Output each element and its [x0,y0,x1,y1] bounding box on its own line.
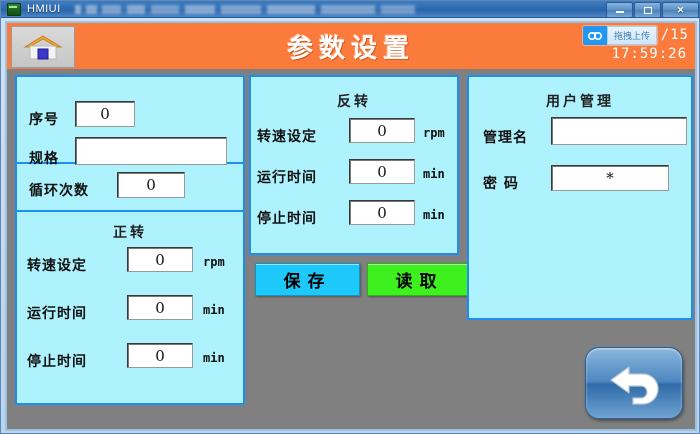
admin-name-input[interactable] [551,117,687,145]
reverse-speed-label: 转速设定 [257,126,317,146]
serial-label: 序号 [29,109,59,129]
reverse-group-title: 反转 [251,91,457,111]
home-button[interactable] [11,26,75,68]
reverse-run-label: 运行时间 [257,167,317,187]
application-window: HMIUI ✕ 参数设置 /15 [0,0,700,434]
app-icon [7,3,21,16]
home-icon [23,34,63,60]
reverse-stop-input[interactable]: 0 [349,200,415,225]
forward-run-input[interactable]: 0 [127,295,193,320]
cloud-icon [583,26,607,45]
reverse-run-unit: min [423,167,445,181]
reverse-run-input[interactable]: 0 [349,159,415,184]
user-management-title: 用户管理 [469,91,691,111]
minimize-button[interactable] [606,2,633,18]
forward-stop-unit: min [203,351,225,365]
mid-panel: 反转 转速设定 0 rpm 运行时间 0 min 停止时间 0 min [249,75,459,255]
admin-name-label: 管理名 [483,127,528,147]
window-title: HMIUI [27,3,61,15]
window-controls: ✕ [606,2,699,18]
read-button[interactable]: 读取 [367,263,472,296]
forward-stop-label: 停止时间 [27,351,87,371]
cycle-label: 循环次数 [29,180,89,200]
panel-divider [17,210,243,212]
serial-input[interactable]: 0 [75,101,135,127]
forward-speed-unit: rpm [203,255,225,269]
upload-badge[interactable]: 拖拽上传 [583,26,657,45]
back-button[interactable] [585,347,683,419]
date-text: /15 [661,27,689,43]
reverse-stop-unit: min [423,208,445,222]
left-panel: 序号 0 规格 循环次数 0 正转 转速设定 0 rpm 运行时间 0 min … [15,75,245,405]
password-input[interactable]: * [551,165,669,191]
forward-run-label: 运行时间 [27,303,87,323]
forward-speed-input[interactable]: 0 [127,247,193,272]
reverse-stop-label: 停止时间 [257,208,317,228]
spec-input[interactable] [75,137,227,165]
save-button[interactable]: 保存 [255,263,360,296]
close-button[interactable]: ✕ [662,2,699,18]
cycle-input[interactable]: 0 [117,172,185,198]
hmi-screen: 参数设置 /15 17:59:26 [5,21,697,431]
upload-badge-label: 拖拽上传 [607,26,657,45]
right-panel: 用户管理 管理名 密 码 * [467,75,693,320]
back-arrow-icon [603,361,665,405]
minimize-icon [616,11,624,13]
screen-header: 参数设置 /15 17:59:26 [7,23,695,69]
password-label: 密 码 [483,173,519,193]
forward-group-title: 正转 [17,222,243,242]
forward-stop-input[interactable]: 0 [127,343,193,368]
maximize-icon [644,7,652,14]
reverse-speed-input[interactable]: 0 [349,118,415,143]
spec-label: 规格 [29,148,59,168]
forward-speed-label: 转速设定 [27,255,87,275]
title-redacted-text [75,5,415,14]
header-status: /15 17:59:26 拖拽上传 [491,25,691,67]
forward-run-unit: min [203,303,225,317]
title-bar: HMIUI ✕ [1,1,700,18]
time-text: 17:59:26 [612,46,687,62]
maximize-button[interactable] [634,2,661,18]
reverse-speed-unit: rpm [423,126,445,140]
